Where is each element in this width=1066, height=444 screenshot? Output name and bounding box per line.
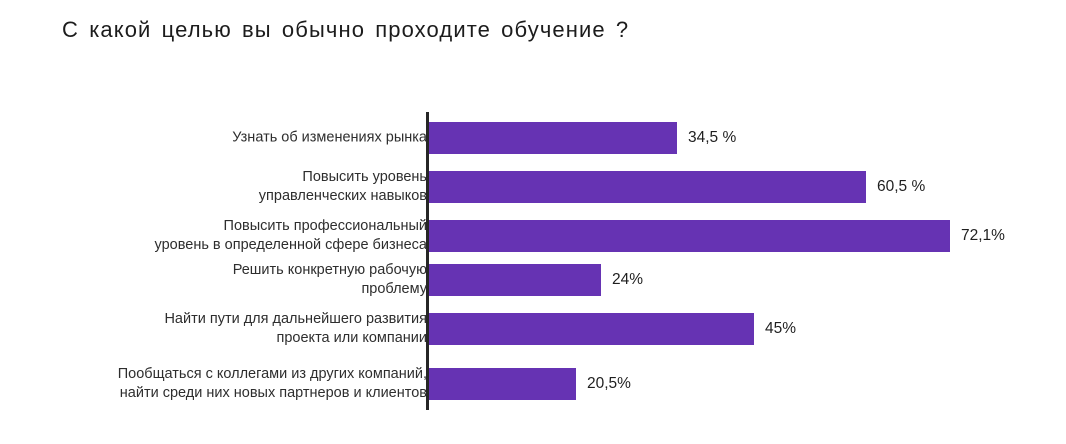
bar-fill[interactable] (429, 313, 754, 345)
bar-value-label: 34,5 % (677, 129, 736, 147)
chart-screenshot: С какой целью вы обычно проходите обучен… (0, 0, 1066, 444)
plot-area: Узнать об изменениях рынка34,5 %Повысить… (0, 0, 1066, 444)
bar-row: Пообщаться с коллегами из других компани… (0, 368, 1066, 400)
bar-track: 20,5% (429, 368, 576, 400)
bar-fill[interactable] (429, 220, 950, 252)
bar-category-label: Пообщаться с коллегами из других компани… (10, 365, 430, 403)
bar-fill[interactable] (429, 264, 601, 296)
bar-value-label: 60,5 % (866, 178, 925, 196)
bar-category-label: Повысить профессиональный уровень в опре… (10, 217, 430, 255)
bar-value-label: 20,5% (576, 375, 631, 393)
bar-row: Решить конкретную рабочую проблему24% (0, 264, 1066, 296)
bar-category-label: Найти пути для дальнейшего развития прое… (10, 310, 430, 348)
bar-fill[interactable] (429, 171, 866, 203)
bar-fill[interactable] (429, 368, 576, 400)
bar-track: 72,1% (429, 220, 950, 252)
bar-category-label: Решить конкретную рабочую проблему (10, 261, 430, 299)
bar-track: 45% (429, 313, 754, 345)
bar-value-label: 45% (754, 320, 796, 338)
bar-track: 60,5 % (429, 171, 866, 203)
bar-row: Повысить профессиональный уровень в опре… (0, 220, 1066, 252)
bar-value-label: 24% (601, 271, 643, 289)
bar-track: 24% (429, 264, 601, 296)
bar-value-label: 72,1% (950, 227, 1005, 245)
bar-category-label: Узнать об изменениях рынка (10, 129, 430, 148)
bar-category-label: Повысить уровень управленческих навыков (10, 168, 430, 206)
bar-row: Узнать об изменениях рынка34,5 % (0, 122, 1066, 154)
bar-row: Найти пути для дальнейшего развития прое… (0, 313, 1066, 345)
bar-track: 34,5 % (429, 122, 677, 154)
bar-row: Повысить уровень управленческих навыков6… (0, 171, 1066, 203)
bar-fill[interactable] (429, 122, 677, 154)
